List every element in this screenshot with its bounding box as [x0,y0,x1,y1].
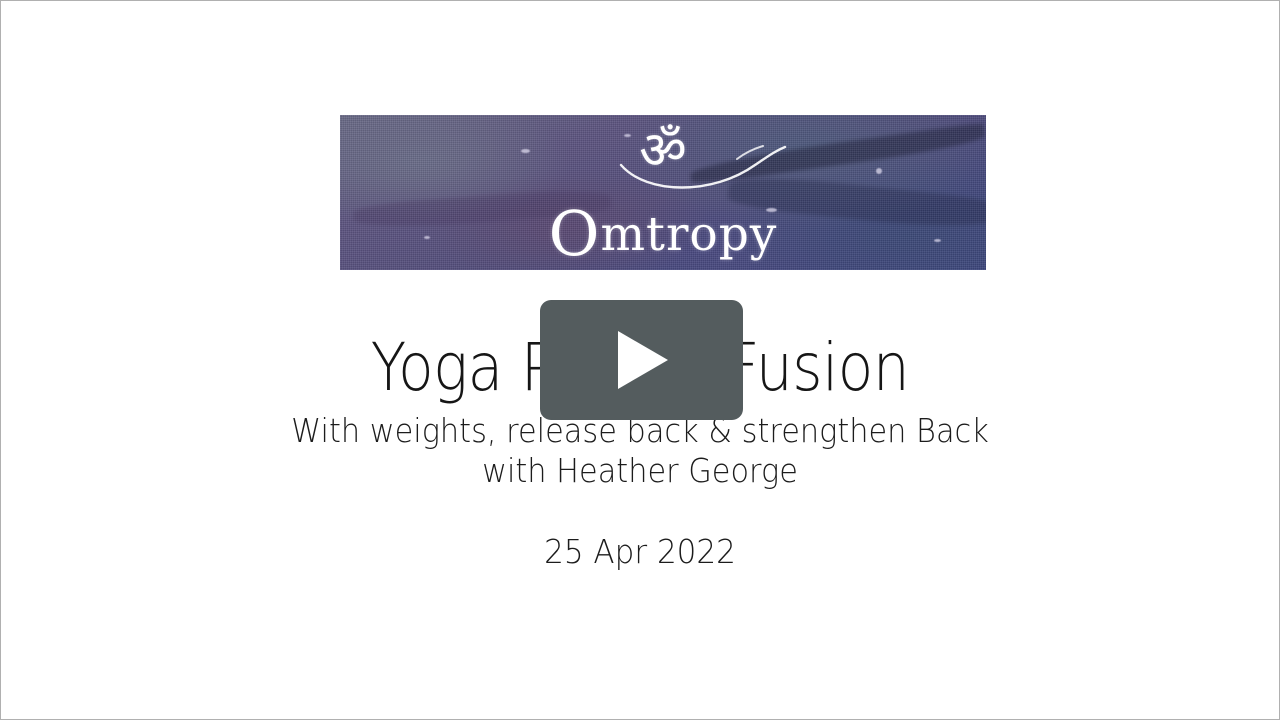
play-triangle-icon [618,331,668,389]
video-subtitle-line-2: with Heather George [52,451,1228,491]
play-button[interactable] [540,300,743,420]
omtropy-logo-banner: ॐ Omtropy [340,115,986,270]
video-date: 25 Apr 2022 [39,532,1240,572]
brand-name-rest: mtropy [600,207,777,262]
om-symbol-icon: ॐ [340,125,986,177]
video-subtitle: With weights, release back & strengthen … [52,411,1228,491]
brand-initial-letter: O [549,197,601,270]
video-player-frame[interactable]: ॐ Omtropy Yoga Pilates Fusion With weigh… [0,0,1280,720]
brand-name-text: Omtropy [340,203,986,265]
